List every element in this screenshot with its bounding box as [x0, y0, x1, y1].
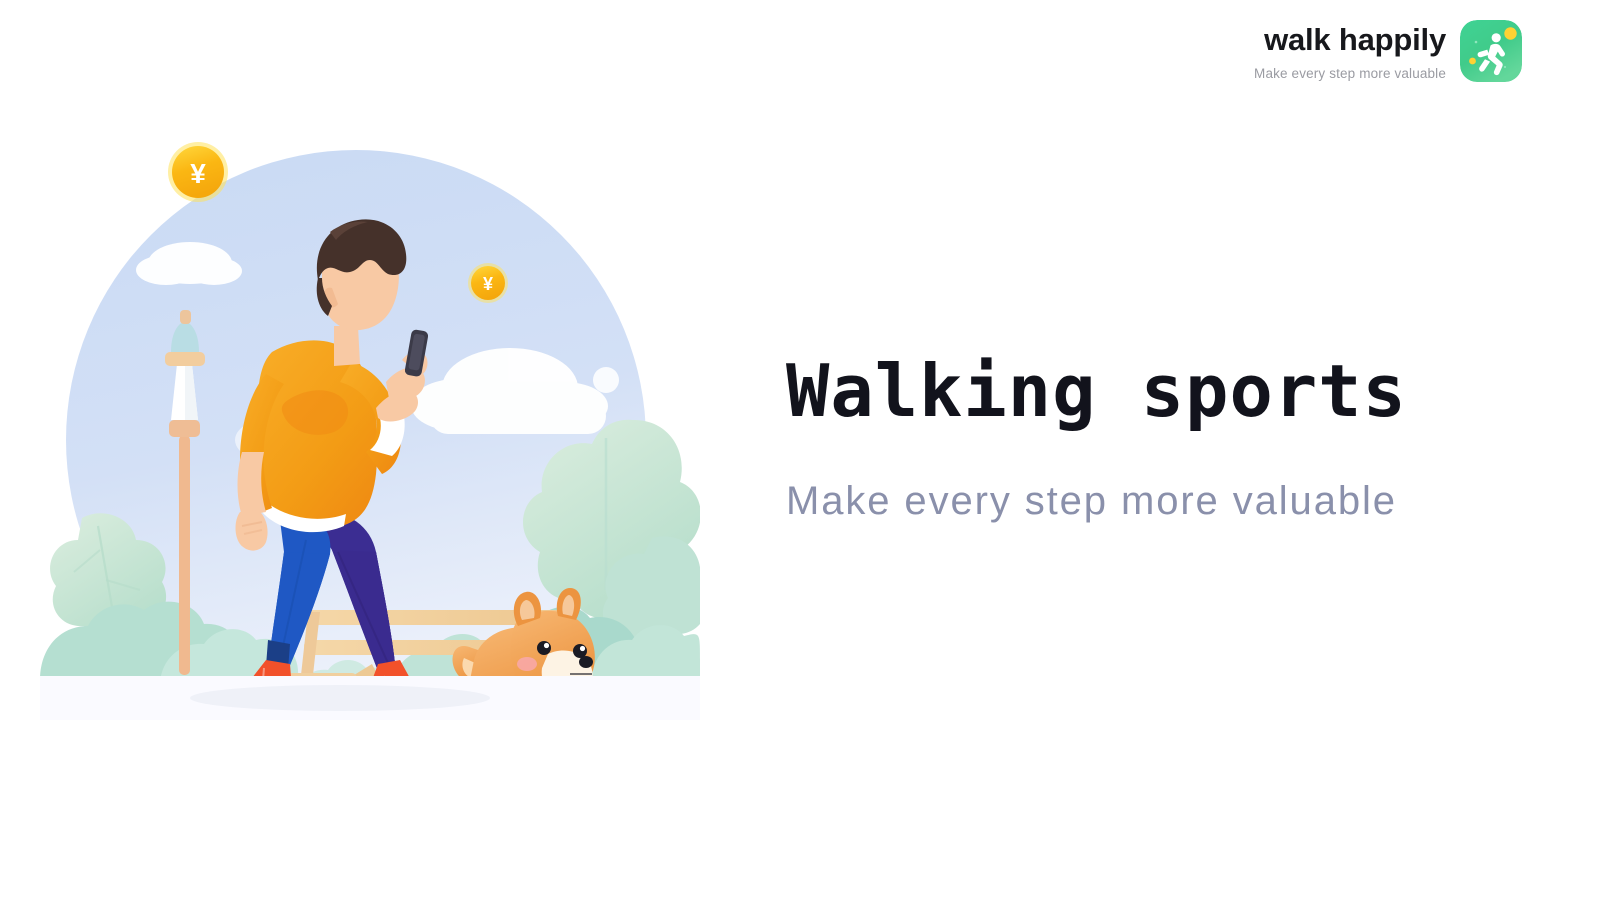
page-subtitle: Make every step more valuable [786, 479, 1546, 523]
brand-text-block: walk happily Make every step more valuab… [1254, 12, 1446, 81]
illustration-svg: ¥ ¥ [40, 120, 700, 720]
ground [40, 676, 700, 720]
yen-coin: ¥ [468, 263, 508, 303]
brand-logo: walk happily Make every step more valuab… [1254, 12, 1522, 82]
brand-name: walk happily [1254, 24, 1446, 57]
brand-tagline: Make every step more valuable [1254, 66, 1446, 81]
hero-copy: Walking sports Make every step more valu… [786, 355, 1546, 523]
coin-symbol: ¥ [483, 274, 493, 294]
running-person-icon[interactable] [1460, 20, 1522, 82]
person-walking-dog-illustration: ¥ ¥ [40, 120, 700, 720]
cloud [593, 367, 619, 393]
yen-coin: ¥ [168, 142, 228, 202]
page-title: Walking sports [786, 355, 1546, 427]
app-icon-svg [1460, 20, 1522, 82]
coin-symbol: ¥ [190, 158, 206, 189]
